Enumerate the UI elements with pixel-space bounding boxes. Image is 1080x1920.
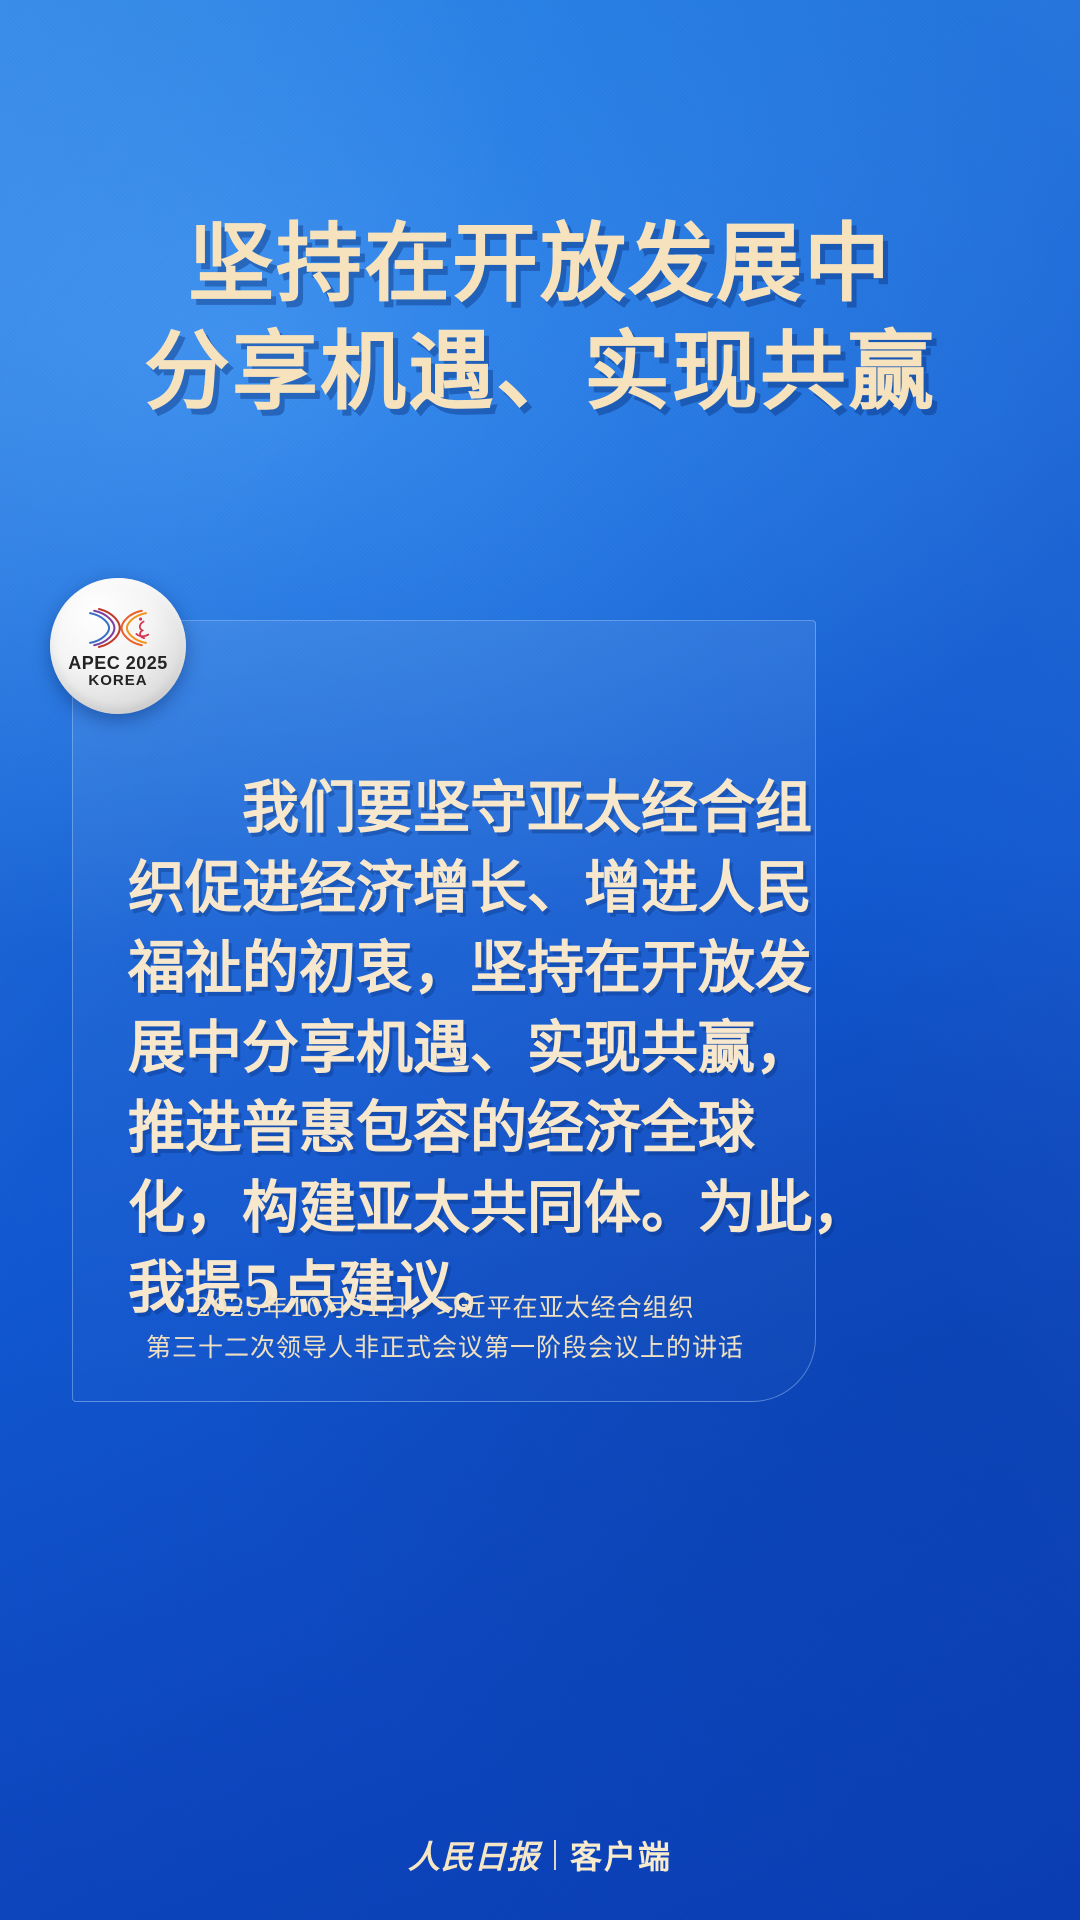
quote-line: 我们要坚守亚太经合组 bbox=[128, 768, 788, 848]
apec-badge: APEC 2025 KOREA bbox=[50, 578, 186, 714]
product-name: 客户端 bbox=[570, 1832, 672, 1878]
headline-line-2: 分享机遇、实现共赢 bbox=[0, 318, 1080, 426]
quote-attribution: 2025年10月31日，习近平在亚太经合组织 第三十二次领导人非正式会议第一阶段… bbox=[100, 1288, 790, 1368]
page-title: 坚持在开放发展中 分享机遇、实现共赢 bbox=[0, 210, 1080, 426]
quote-text: 我们要坚守亚太经合组 织促进经济增长、增进人民 福祉的初衷，坚持在开放发 展中分… bbox=[128, 768, 788, 1328]
attribution-line-2: 第三十二次领导人非正式会议第一阶段会议上的讲话 bbox=[100, 1328, 790, 1368]
quote-line: 化，构建亚太共同体。为此， bbox=[128, 1168, 788, 1248]
apec-badge-title: APEC 2025 bbox=[68, 653, 168, 673]
apec-korea-logo-icon bbox=[79, 606, 157, 650]
quote-line: 推进普惠包容的经济全球 bbox=[128, 1088, 788, 1168]
footer-logo: 人民日报 客户端 bbox=[0, 1832, 1080, 1878]
poster-root: 坚持在开放发展中 分享机遇、实现共赢 APEC 2025 KOREA 我们要坚守… bbox=[0, 0, 1080, 1920]
quote-line: 织促进经济增长、增进人民 bbox=[128, 848, 788, 928]
headline-line-1: 坚持在开放发展中 bbox=[0, 210, 1080, 318]
attribution-line-1: 2025年10月31日，习近平在亚太经合组织 bbox=[100, 1288, 790, 1328]
quote-line: 福祉的初衷，坚持在开放发 bbox=[128, 928, 788, 1008]
footer-divider bbox=[554, 1840, 556, 1870]
publisher-name: 人民日报 bbox=[408, 1832, 540, 1878]
apec-badge-subtitle: KOREA bbox=[88, 673, 147, 689]
quote-line: 展中分享机遇、实现共赢， bbox=[128, 1008, 788, 1088]
